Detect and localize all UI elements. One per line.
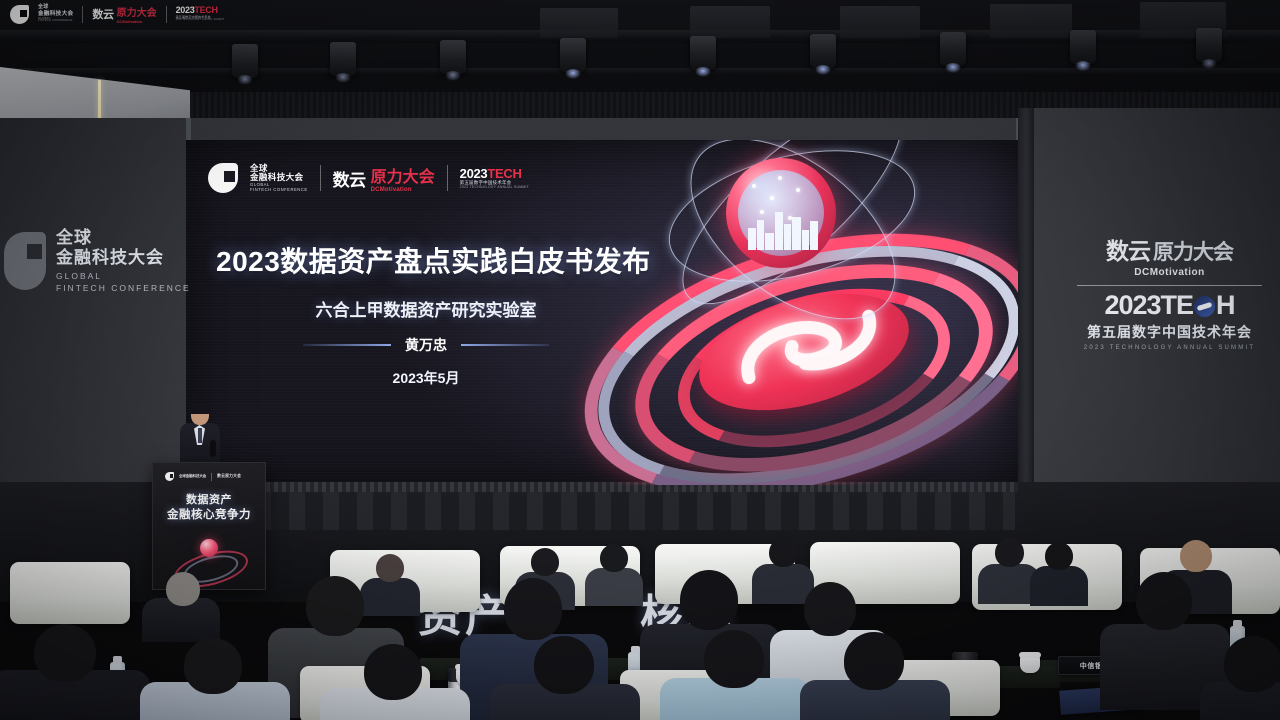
audience-person [0, 624, 150, 720]
screen-dc-cn: 数云 [333, 166, 366, 191]
tech-summit-lockup: 2023TECH 第五届数字中国技术年会 2023 TECHNOLOGY ANN… [460, 167, 530, 189]
audience-person [800, 632, 950, 720]
stage-spotlight-icon [1070, 30, 1096, 64]
left-wall-cn-line2: 金融科技大会 [56, 248, 191, 268]
audience-person [490, 636, 640, 720]
gfc-circle-mark-icon [4, 232, 46, 290]
divider [1077, 285, 1262, 286]
watermark-dc-accent: 原力大会 [117, 4, 157, 19]
broadcast-watermark: 全球 金融科技大会 GLOBAL FINTECH CONFERENCE 数云 原… [10, 4, 224, 24]
podium-headline-line1: 数据资产 [153, 493, 265, 508]
screen-dc-en: DCMotivation [371, 187, 435, 193]
ceiling-panel [540, 8, 618, 38]
stage-deck-edge [186, 482, 1018, 492]
podium-logo-cn: 全球金融科技大会 [179, 474, 206, 478]
sofa-seat [10, 562, 130, 624]
screen-gfc-cn2: 金融科技大会 [250, 173, 308, 182]
watermark-dc-lockup: 数云 原力大会 DCMotivation [92, 4, 156, 24]
screen-gfc-en2: FINTECH CONFERENCE [250, 188, 308, 192]
divider [166, 6, 167, 23]
left-wall-en-line1: GLOBAL [56, 271, 191, 281]
right-wall-cn-sub: 第五届数字中国技术年会 [1062, 322, 1277, 342]
screen-year-en: 2023 TECHNOLOGY ANNUAL SUMMIT [460, 186, 530, 189]
stage-spotlight-icon [440, 40, 466, 74]
right-wall-tech-lockup: 2023TEH [1062, 292, 1277, 319]
right-wall-tech-left: TE [1161, 290, 1194, 320]
slide-organization: 六合上甲数据资产研究实验室 [216, 296, 636, 321]
audience-person [140, 638, 290, 720]
watermark-tech: TECH [194, 5, 217, 15]
screen-year: 2023 [460, 166, 488, 181]
audience-person [320, 644, 470, 720]
slide-title: 2023数据资产盘点实践白皮书发布 [216, 240, 636, 280]
watermark-dc-en: DCMotivation [117, 19, 157, 24]
audience-person [660, 630, 810, 720]
right-wall-cn-main: 数云 [1106, 232, 1150, 266]
slide-presenter: 黄万忠 [405, 335, 447, 355]
right-wall-en-sub2: 2023 TECHNOLOGY ANNUAL SUMMIT [1062, 345, 1277, 351]
screen-logo-lockup: 全球 金融科技大会 GLOBAL FINTECH CONFERENCE 数云 原… [208, 163, 529, 193]
screen-tech: TECH [487, 166, 521, 181]
screen-dc-accent: 原力大会 [371, 163, 435, 187]
microphone-icon [210, 440, 216, 457]
watermark-en-line2: FINTECH CONFERENCE [38, 20, 73, 23]
divider [320, 165, 321, 191]
podium-headline: 数据资产 金融核心竞争力 [153, 493, 265, 523]
stage-spotlight-icon [330, 42, 356, 76]
divider [82, 6, 83, 23]
left-wall-cn-line1: 全球 [56, 228, 191, 248]
stage-graphic-artwork [578, 150, 1018, 480]
gfc-circle-mark-icon [10, 5, 29, 24]
stage-spotlight-icon [560, 38, 586, 72]
watermark-tech-lockup: 2023TECH 第五届数字中国技术年会 2023 TECHNOLOGY ANN… [176, 6, 225, 21]
ceiling-panel [990, 4, 1072, 38]
main-led-screen: 全球 金融科技大会 GLOBAL FINTECH CONFERENCE 数云 原… [186, 140, 1018, 485]
stage-spotlight-icon [1196, 28, 1222, 62]
ceiling-panel [840, 6, 920, 38]
gfc-circle-mark-icon [208, 163, 238, 193]
divider-right [461, 344, 549, 346]
tea-cup [1020, 656, 1040, 673]
left-wall-branding: 全球 金融科技大会 GLOBAL FINTECH CONFERENCE [4, 228, 191, 293]
podium-logo-dc: 数云原力大会 [217, 474, 241, 479]
right-wall-cn-accent: 原力大会 [1153, 236, 1233, 266]
gfc-circle-mark-icon [165, 472, 174, 481]
divider-left [303, 344, 391, 346]
stage-spotlight-icon [810, 34, 836, 68]
stage-spotlight-icon [232, 44, 258, 78]
left-wall-en-line2: FINTECH CONFERENCE [56, 283, 191, 293]
ceiling-panel [690, 6, 770, 38]
slide-text-block: 2023数据资产盘点实践白皮书发布 六合上甲数据资产研究实验室 黄万忠 2023… [216, 240, 636, 388]
audience-person [142, 568, 220, 638]
right-wall-en-sub: DCMotivation [1062, 267, 1277, 278]
right-wall-tech-right: H [1216, 290, 1235, 320]
stage-spotlight-icon [690, 36, 716, 70]
globe-sphere-icon [726, 158, 836, 268]
slide-date: 2023年5月 [216, 368, 636, 388]
right-wall-branding: 数云 原力大会 DCMotivation 2023TEH 第五届数字中国技术年会… [1062, 232, 1277, 351]
right-wall-year: 2023 [1104, 290, 1160, 320]
conference-stage-frame: 全球 金融科技大会 GLOBAL FINTECH CONFERENCE 数云 原… [0, 0, 1280, 720]
audience-area: 中国进出口银行 中信银行 中信银行 [0, 520, 1280, 720]
swirl-c-icon [1194, 296, 1215, 317]
divider [211, 473, 212, 481]
watermark-en-sub2: 2023 TECHNOLOGY ANNUAL SUMMIT [176, 19, 225, 21]
watermark-year: 2023 [176, 5, 195, 15]
dcmotivation-lockup: 数云 原力大会 DCMotivation [333, 163, 435, 193]
stage-spotlight-icon [940, 32, 966, 66]
audience-person [1030, 542, 1088, 600]
watermark-dc-cn: 数云 [92, 6, 113, 22]
audience-person [1200, 636, 1280, 720]
podium-logo-lockup: 全球金融科技大会 数云原力大会 [165, 472, 241, 481]
divider [447, 165, 448, 191]
city-skyline-icon [748, 204, 818, 250]
